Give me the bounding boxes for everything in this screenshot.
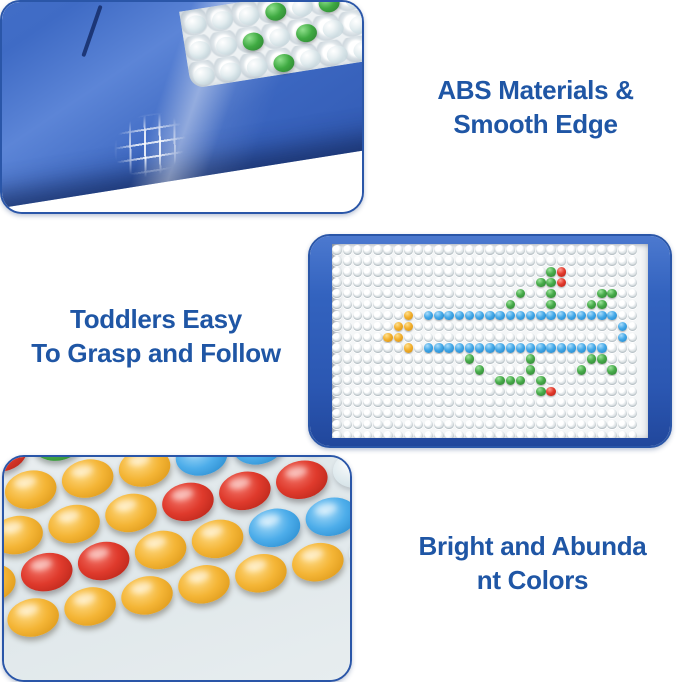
- corner-peg: [184, 14, 208, 35]
- peg-cell: [577, 354, 587, 365]
- corner-peg: [264, 1, 288, 22]
- peg-cell: [556, 278, 566, 289]
- peg-cell: [352, 245, 362, 256]
- peg-cell: [536, 376, 546, 387]
- peg-cell: [403, 430, 413, 438]
- peg-cell: [556, 408, 566, 419]
- peg-cell: [475, 332, 485, 343]
- peg-cell: [505, 310, 515, 321]
- peg-cell: [617, 387, 627, 398]
- peg-cell: [526, 376, 536, 387]
- peg-cell: [627, 408, 637, 419]
- peg-yellow: [118, 572, 176, 619]
- peg-cell: [617, 376, 627, 387]
- peg-cell: [505, 289, 515, 300]
- peg-cell: [597, 397, 607, 408]
- peg-cell: [566, 343, 576, 354]
- peg-cell: [454, 354, 464, 365]
- peg-cell: [536, 321, 546, 332]
- peg-cell: [617, 267, 627, 278]
- peg-cell: [454, 343, 464, 354]
- peg-cell: [495, 256, 505, 267]
- peg-cell: [597, 419, 607, 430]
- peg-cell: [536, 245, 546, 256]
- peg-cell: [536, 278, 546, 289]
- peg-cell: [556, 267, 566, 278]
- corner-peg: [325, 44, 349, 65]
- peg-cell: [607, 299, 617, 310]
- peg-cell: [403, 256, 413, 267]
- peg-cell: [393, 256, 403, 267]
- peg-cell: [495, 430, 505, 438]
- peg-cell: [444, 430, 454, 438]
- peg-cell: [597, 299, 607, 310]
- peg-cell: [515, 419, 525, 430]
- peg-cell: [587, 354, 597, 365]
- peg-cell: [332, 387, 342, 398]
- peg-cell: [607, 430, 617, 438]
- peg-cell: [515, 430, 525, 438]
- peg-yellow: [4, 594, 62, 641]
- peg-cell: [403, 245, 413, 256]
- peg-cell: [546, 256, 556, 267]
- peg-cell: [577, 299, 587, 310]
- peg-yellow: [232, 550, 290, 597]
- peg-cell: [566, 299, 576, 310]
- peg-grid: [332, 245, 638, 438]
- peg-cell: [485, 376, 495, 387]
- blue-board-corner-photo: [2, 2, 362, 212]
- corner-peg: [188, 40, 212, 61]
- peg-cell: [454, 408, 464, 419]
- peg-cell: [495, 365, 505, 376]
- peg-cell: [332, 365, 342, 376]
- peg-cell: [607, 376, 617, 387]
- peg-cell: [424, 430, 434, 438]
- peg-cell: [434, 310, 444, 321]
- peg-cell: [505, 267, 515, 278]
- peg-cell: [546, 245, 556, 256]
- peg-cell: [577, 376, 587, 387]
- peg-cell: [464, 376, 474, 387]
- peg-cell: [393, 310, 403, 321]
- peg-cell: [566, 256, 576, 267]
- peg-cell: [617, 245, 627, 256]
- peg-cell: [363, 299, 373, 310]
- peg-cell: [627, 332, 637, 343]
- panel-corner-closeup: [0, 0, 364, 214]
- peg-cell: [577, 278, 587, 289]
- peg-cell: [424, 387, 434, 398]
- peg-cell: [587, 387, 597, 398]
- peg-cell: [607, 397, 617, 408]
- peg-cell: [424, 278, 434, 289]
- peg-cell: [464, 245, 474, 256]
- peg-yellow: [188, 515, 246, 562]
- peg-cell: [566, 376, 576, 387]
- peg-cell: [536, 430, 546, 438]
- peg-cell: [577, 408, 587, 419]
- peg-cell: [434, 332, 444, 343]
- peg-cell: [444, 289, 454, 300]
- peg-cell: [526, 343, 536, 354]
- peg-cell: [505, 419, 515, 430]
- peg-cell: [607, 332, 617, 343]
- peg-cell: [383, 387, 393, 398]
- peg-cell: [505, 430, 515, 438]
- peg-cell: [617, 289, 627, 300]
- peg-cell: [597, 365, 607, 376]
- peg-cell: [627, 289, 637, 300]
- pegs-cluster: [4, 457, 350, 680]
- peg-cell: [475, 245, 485, 256]
- peg-cell: [505, 387, 515, 398]
- peg-cell: [505, 256, 515, 267]
- peg-cell: [526, 387, 536, 398]
- peg-cell: [373, 310, 383, 321]
- peg-cell: [373, 397, 383, 408]
- peg-cell: [464, 332, 474, 343]
- peg-cell: [627, 256, 637, 267]
- peg-cell: [444, 387, 454, 398]
- peg-cell: [393, 430, 403, 438]
- peg-cell: [454, 365, 464, 376]
- peg-cell: [577, 397, 587, 408]
- corner-peg: [219, 61, 243, 82]
- peg-cell: [536, 354, 546, 365]
- peg-cell: [536, 289, 546, 300]
- peg-cell: [485, 397, 495, 408]
- peg-cell: [373, 245, 383, 256]
- peg-cell: [363, 354, 373, 365]
- peg-cell: [495, 245, 505, 256]
- peg-cell: [454, 289, 464, 300]
- peg-cell: [556, 343, 566, 354]
- peg-cell: [434, 256, 444, 267]
- peg-cell: [414, 397, 424, 408]
- peg-cell: [342, 419, 352, 430]
- peg-cell: [383, 365, 393, 376]
- peg-yellow: [131, 526, 189, 573]
- peg-cell: [597, 245, 607, 256]
- peg-cell: [515, 299, 525, 310]
- peg-cell: [546, 299, 556, 310]
- peg-cell: [373, 278, 383, 289]
- peg-cell: [414, 408, 424, 419]
- peg-cell: [485, 245, 495, 256]
- peg-cell: [475, 430, 485, 438]
- peg-cell: [617, 408, 627, 419]
- peg-cell: [393, 245, 403, 256]
- peg-cell: [352, 430, 362, 438]
- peg-cell: [566, 408, 576, 419]
- peg-cell: [454, 387, 464, 398]
- peg-cell: [464, 256, 474, 267]
- peg-cell: [526, 397, 536, 408]
- peg-cell: [434, 430, 444, 438]
- peg-cell: [577, 321, 587, 332]
- peg-cell: [424, 419, 434, 430]
- peg-red: [159, 478, 217, 525]
- peg-cell: [577, 430, 587, 438]
- peg-cell: [393, 332, 403, 343]
- peg-cell: [566, 430, 576, 438]
- peg-cell: [597, 354, 607, 365]
- peg-cell: [363, 310, 373, 321]
- peg-cell: [332, 354, 342, 365]
- peg-cell: [414, 299, 424, 310]
- peg-cell: [373, 408, 383, 419]
- peg-cell: [526, 321, 536, 332]
- peg-cell: [332, 299, 342, 310]
- peg-cell: [352, 354, 362, 365]
- peg-cell: [577, 419, 587, 430]
- peg-yellow: [58, 457, 116, 502]
- peg-cell: [454, 321, 464, 332]
- peg-cell: [414, 256, 424, 267]
- corner-peg: [215, 35, 239, 56]
- peg-cell: [495, 299, 505, 310]
- peg-cell: [485, 278, 495, 289]
- peg-cell: [597, 387, 607, 398]
- peg-cell: [342, 289, 352, 300]
- peg-cell: [332, 289, 342, 300]
- corner-peg: [317, 0, 341, 14]
- peg-cell: [587, 419, 597, 430]
- peg-cell: [464, 387, 474, 398]
- peg-cell: [464, 267, 474, 278]
- peg-cell: [566, 310, 576, 321]
- peg-cell: [617, 397, 627, 408]
- peg-cell: [587, 245, 597, 256]
- peg-cell: [352, 408, 362, 419]
- peg-cell: [617, 332, 627, 343]
- peg-cell: [536, 310, 546, 321]
- peg-cell: [577, 245, 587, 256]
- peg-cell: [403, 310, 413, 321]
- peg-cell: [464, 289, 474, 300]
- peg-cell: [546, 387, 556, 398]
- peg-cell: [464, 419, 474, 430]
- peg-cell: [566, 289, 576, 300]
- peg-cell: [434, 376, 444, 387]
- peg-cell: [373, 299, 383, 310]
- peg-cell: [607, 387, 617, 398]
- peg-yellow: [4, 605, 5, 652]
- corner-peg: [344, 0, 364, 10]
- peg-cell: [627, 267, 637, 278]
- callout-bright-colors: Bright and Abunda nt Colors: [386, 530, 679, 598]
- peg-cell: [526, 245, 536, 256]
- peg-cell: [566, 365, 576, 376]
- peg-cell: [363, 256, 373, 267]
- peg-cell: [363, 332, 373, 343]
- peg-cell: [566, 245, 576, 256]
- peg-cell: [607, 310, 617, 321]
- peg-cell: [475, 408, 485, 419]
- peg-cell: [383, 332, 393, 343]
- peg-cell: [495, 419, 505, 430]
- corner-peg: [192, 65, 216, 86]
- peg-cell: [403, 299, 413, 310]
- peg-cell: [536, 332, 546, 343]
- peg-cell: [414, 387, 424, 398]
- peg-yellow: [175, 561, 233, 608]
- peg-cell: [597, 310, 607, 321]
- peg-red: [75, 537, 133, 584]
- peg-cell: [342, 245, 352, 256]
- peg-cell: [515, 321, 525, 332]
- peg-cell: [515, 343, 525, 354]
- peg-cell: [505, 332, 515, 343]
- peg-cell: [587, 430, 597, 438]
- peg-cell: [475, 278, 485, 289]
- peg-cell: [363, 245, 373, 256]
- peg-cell: [546, 332, 556, 343]
- corner-peg: [237, 5, 261, 26]
- peg-cell: [556, 354, 566, 365]
- peg-cell: [556, 289, 566, 300]
- peg-cell: [515, 256, 525, 267]
- peg-cell: [597, 256, 607, 267]
- peg-cell: [424, 256, 434, 267]
- peg-cell: [414, 430, 424, 438]
- peg-cell: [383, 408, 393, 419]
- peg-cell: [587, 267, 597, 278]
- peg-cell: [607, 419, 617, 430]
- peg-cell: [444, 376, 454, 387]
- peg-cell: [342, 365, 352, 376]
- peg-red: [18, 549, 76, 596]
- peg-cell: [566, 278, 576, 289]
- peg-cell: [627, 321, 637, 332]
- peg-cell: [454, 419, 464, 430]
- peg-cell: [434, 419, 444, 430]
- pegboard-surface: [332, 244, 648, 438]
- peg-cell: [617, 299, 627, 310]
- peg-cell: [546, 310, 556, 321]
- peg-cell: [597, 332, 607, 343]
- peg-cell: [546, 408, 556, 419]
- peg-cell: [587, 343, 597, 354]
- peg-cell: [515, 376, 525, 387]
- peg-cell: [495, 289, 505, 300]
- peg-cell: [383, 321, 393, 332]
- peg-cell: [444, 343, 454, 354]
- peg-cell: [495, 267, 505, 278]
- peg-cell: [342, 299, 352, 310]
- peg-cell: [454, 397, 464, 408]
- peg-cell: [495, 354, 505, 365]
- peg-cell: [607, 354, 617, 365]
- peg-cell: [495, 408, 505, 419]
- peg-cell: [607, 245, 617, 256]
- peg-cell: [444, 245, 454, 256]
- peg-cell: [627, 310, 637, 321]
- peg-cell: [434, 321, 444, 332]
- peg-cell: [414, 354, 424, 365]
- peg-cell: [342, 332, 352, 343]
- peg-cell: [332, 267, 342, 278]
- peg-cell: [393, 299, 403, 310]
- peg-cell: [515, 354, 525, 365]
- panel-pegs-closeup: [2, 455, 352, 682]
- corner-peg: [348, 14, 364, 35]
- peg-cell: [403, 397, 413, 408]
- pegboard-blue-frame: [310, 236, 670, 446]
- peg-cell: [444, 310, 454, 321]
- peg-cell: [464, 278, 474, 289]
- peg-cell: [546, 430, 556, 438]
- peg-cell: [475, 267, 485, 278]
- peg-cell: [515, 397, 525, 408]
- peg-cell: [526, 278, 536, 289]
- peg-cell: [373, 354, 383, 365]
- peg-cell: [424, 321, 434, 332]
- peg-cell: [444, 332, 454, 343]
- peg-yellow: [61, 583, 119, 630]
- peg-cell: [556, 245, 566, 256]
- peg-cell: [475, 419, 485, 430]
- peg-cell: [587, 256, 597, 267]
- peg-cell: [546, 289, 556, 300]
- peg-cell: [434, 289, 444, 300]
- peg-cell: [577, 267, 587, 278]
- peg-cell: [363, 321, 373, 332]
- peg-cell: [475, 321, 485, 332]
- peg-cell: [536, 256, 546, 267]
- peg-cell: [526, 310, 536, 321]
- peg-cell: [587, 321, 597, 332]
- peg-cell: [424, 408, 434, 419]
- peg-cell: [475, 354, 485, 365]
- peg-cell: [363, 419, 373, 430]
- peg-cell: [352, 267, 362, 278]
- peg-cell: [363, 267, 373, 278]
- peg-yellow: [102, 489, 160, 536]
- peg-cell: [383, 354, 393, 365]
- peg-cell: [352, 419, 362, 430]
- peg-cell: [393, 376, 403, 387]
- corner-peg: [245, 57, 269, 78]
- peg-cell: [536, 387, 546, 398]
- peg-cell: [424, 397, 434, 408]
- peg-cell: [393, 354, 403, 365]
- peg-cell: [373, 365, 383, 376]
- peg-cell: [485, 387, 495, 398]
- peg-cell: [414, 245, 424, 256]
- peg-cell: [556, 430, 566, 438]
- peg-cell: [424, 343, 434, 354]
- callout-line: nt Colors: [475, 564, 590, 598]
- peg-red: [216, 467, 274, 514]
- peg-cell: [363, 365, 373, 376]
- peg-cell: [424, 299, 434, 310]
- peg-cell: [414, 332, 424, 343]
- peg-cell: [363, 343, 373, 354]
- peg-cell: [342, 354, 352, 365]
- peg-cell: [627, 278, 637, 289]
- peg-cell: [597, 376, 607, 387]
- peg-cell: [352, 332, 362, 343]
- peg-cell: [342, 343, 352, 354]
- peg-cell: [505, 408, 515, 419]
- peg-cell: [454, 256, 464, 267]
- peg-cell: [485, 256, 495, 267]
- peg-cell: [577, 332, 587, 343]
- peg-cell: [536, 408, 546, 419]
- peg-cell: [424, 245, 434, 256]
